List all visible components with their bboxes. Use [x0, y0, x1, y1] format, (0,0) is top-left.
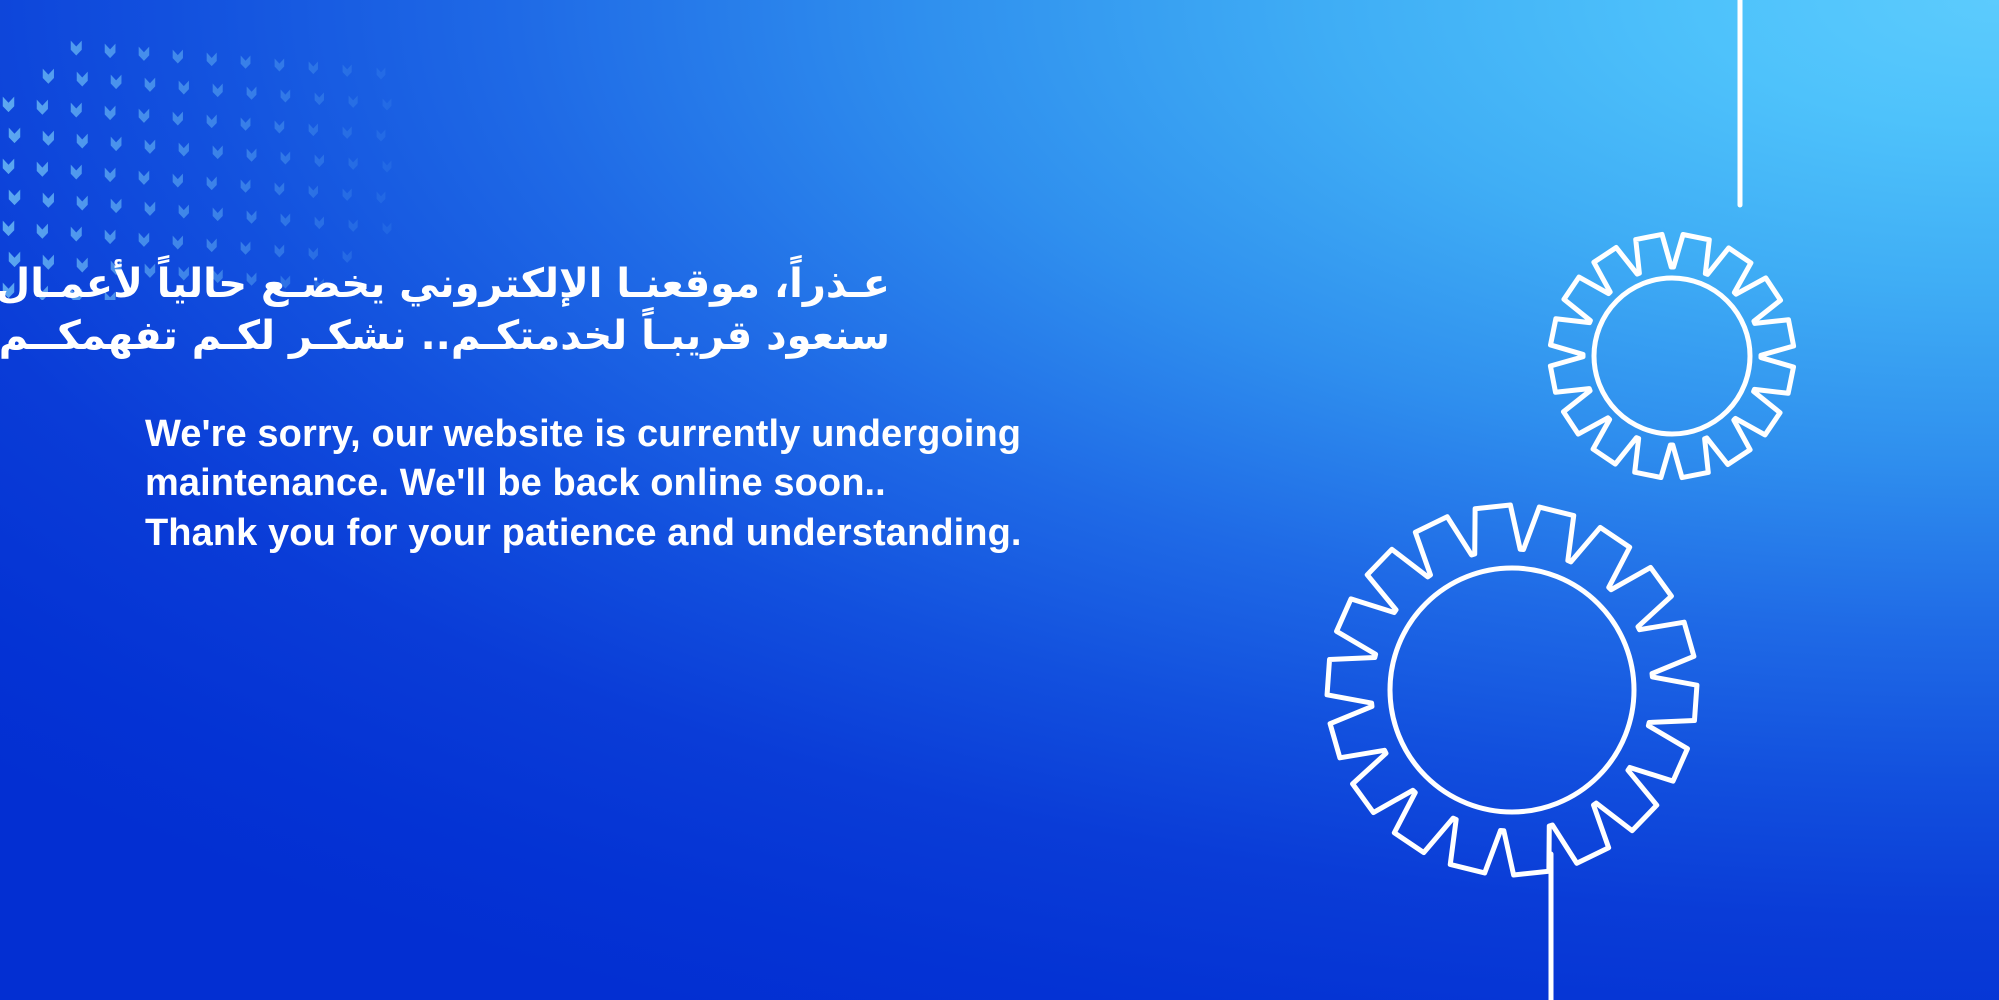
maintenance-message: عـذراً، موقعنـا الإلكتروني يخضـع حالياً … — [145, 258, 1125, 558]
small-gear-hub — [1594, 278, 1750, 434]
arabic-line-2: سنعود قريبـاً لخدمتكـم.. نشكـر لكـم تفهم… — [145, 310, 890, 362]
arabic-line-1: عـذراً، موقعنـا الإلكتروني يخضـع حالياً … — [145, 258, 890, 310]
arabic-message: عـذراً، موقعنـا الإلكتروني يخضـع حالياً … — [145, 258, 890, 362]
small-gear-outline — [1550, 234, 1793, 477]
english-line-2: maintenance. We'll be back online soon.. — [145, 459, 1125, 508]
english-line-3: Thank you for your patience and understa… — [145, 509, 1125, 558]
chevron-dot-pattern — [0, 0, 420, 300]
large-gear-hub — [1390, 568, 1634, 812]
english-message: We're sorry, our website is currently un… — [145, 410, 1125, 558]
maintenance-page: عـذراً، موقعنـا الإلكتروني يخضـع حالياً … — [0, 0, 1999, 1000]
large-gear-outline — [1327, 505, 1697, 875]
english-line-1: We're sorry, our website is currently un… — [145, 410, 1125, 459]
